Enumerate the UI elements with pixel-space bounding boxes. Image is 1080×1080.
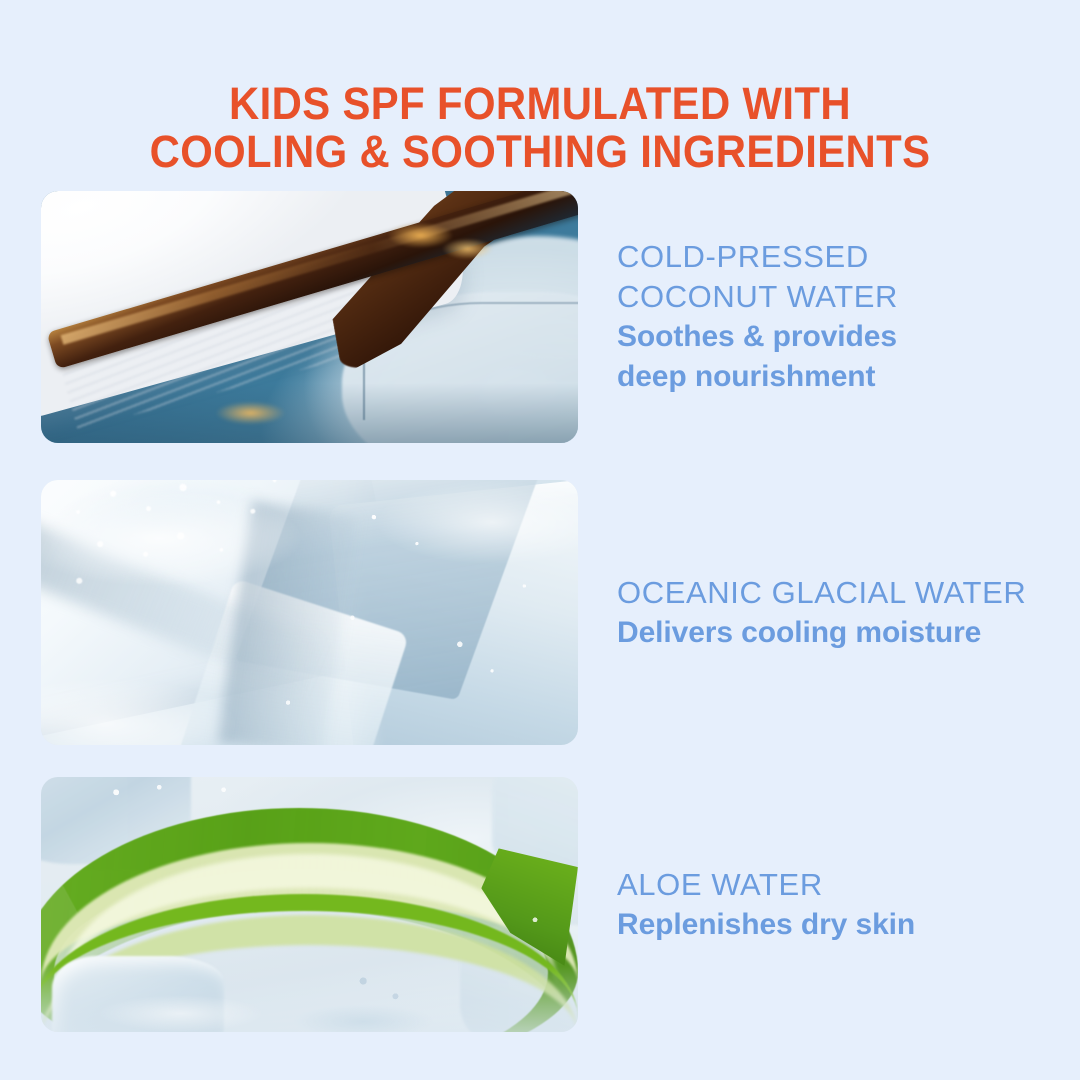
ingredient-description-coconut: Soothes & provides deep nourishment (617, 317, 1041, 397)
ingredient-row-aloe: ALOE WATER Replenishes dry skin (41, 777, 1041, 1032)
ingredient-name-coconut: COLD-PRESSED COCONUT WATER (617, 237, 1041, 317)
page-title-line-2: COOLING & SOOTHING INGREDIENTS (38, 128, 1042, 176)
coconut-text-block: COLD-PRESSED COCONUT WATER Soothes & pro… (578, 237, 1041, 397)
ice-soft-highlights (41, 480, 578, 745)
ingredient-description-aloe: Replenishes dry skin (617, 905, 1041, 945)
aloe-photo (41, 777, 578, 1032)
ingredient-description-glacial-water: Delivers cooling moisture (617, 613, 1041, 653)
aloe-text-block: ALOE WATER Replenishes dry skin (578, 865, 1041, 945)
aloe-water-droplets (41, 777, 578, 1032)
page-title-line-1: KIDS SPF FORMULATED WITH (38, 80, 1042, 128)
ingredient-name-aloe: ALOE WATER (617, 865, 1041, 905)
glacial-water-text-block: OCEANIC GLACIAL WATER Delivers cooling m… (578, 573, 1041, 653)
ingredient-row-coconut: COLD-PRESSED COCONUT WATER Soothes & pro… (41, 191, 1041, 443)
coconut-photo (41, 191, 578, 443)
page-title: KIDS SPF FORMULATED WITH COOLING & SOOTH… (38, 80, 1042, 176)
ingredient-row-glacial-water: OCEANIC GLACIAL WATER Delivers cooling m… (41, 480, 1041, 745)
coconut-fiber-lower (202, 393, 299, 433)
ingredient-name-glacial-water: OCEANIC GLACIAL WATER (617, 573, 1041, 613)
infographic-page: KIDS SPF FORMULATED WITH COOLING & SOOTH… (0, 0, 1080, 1080)
coconut-fiber-upper (385, 211, 503, 271)
glacial-ice-photo (41, 480, 578, 745)
